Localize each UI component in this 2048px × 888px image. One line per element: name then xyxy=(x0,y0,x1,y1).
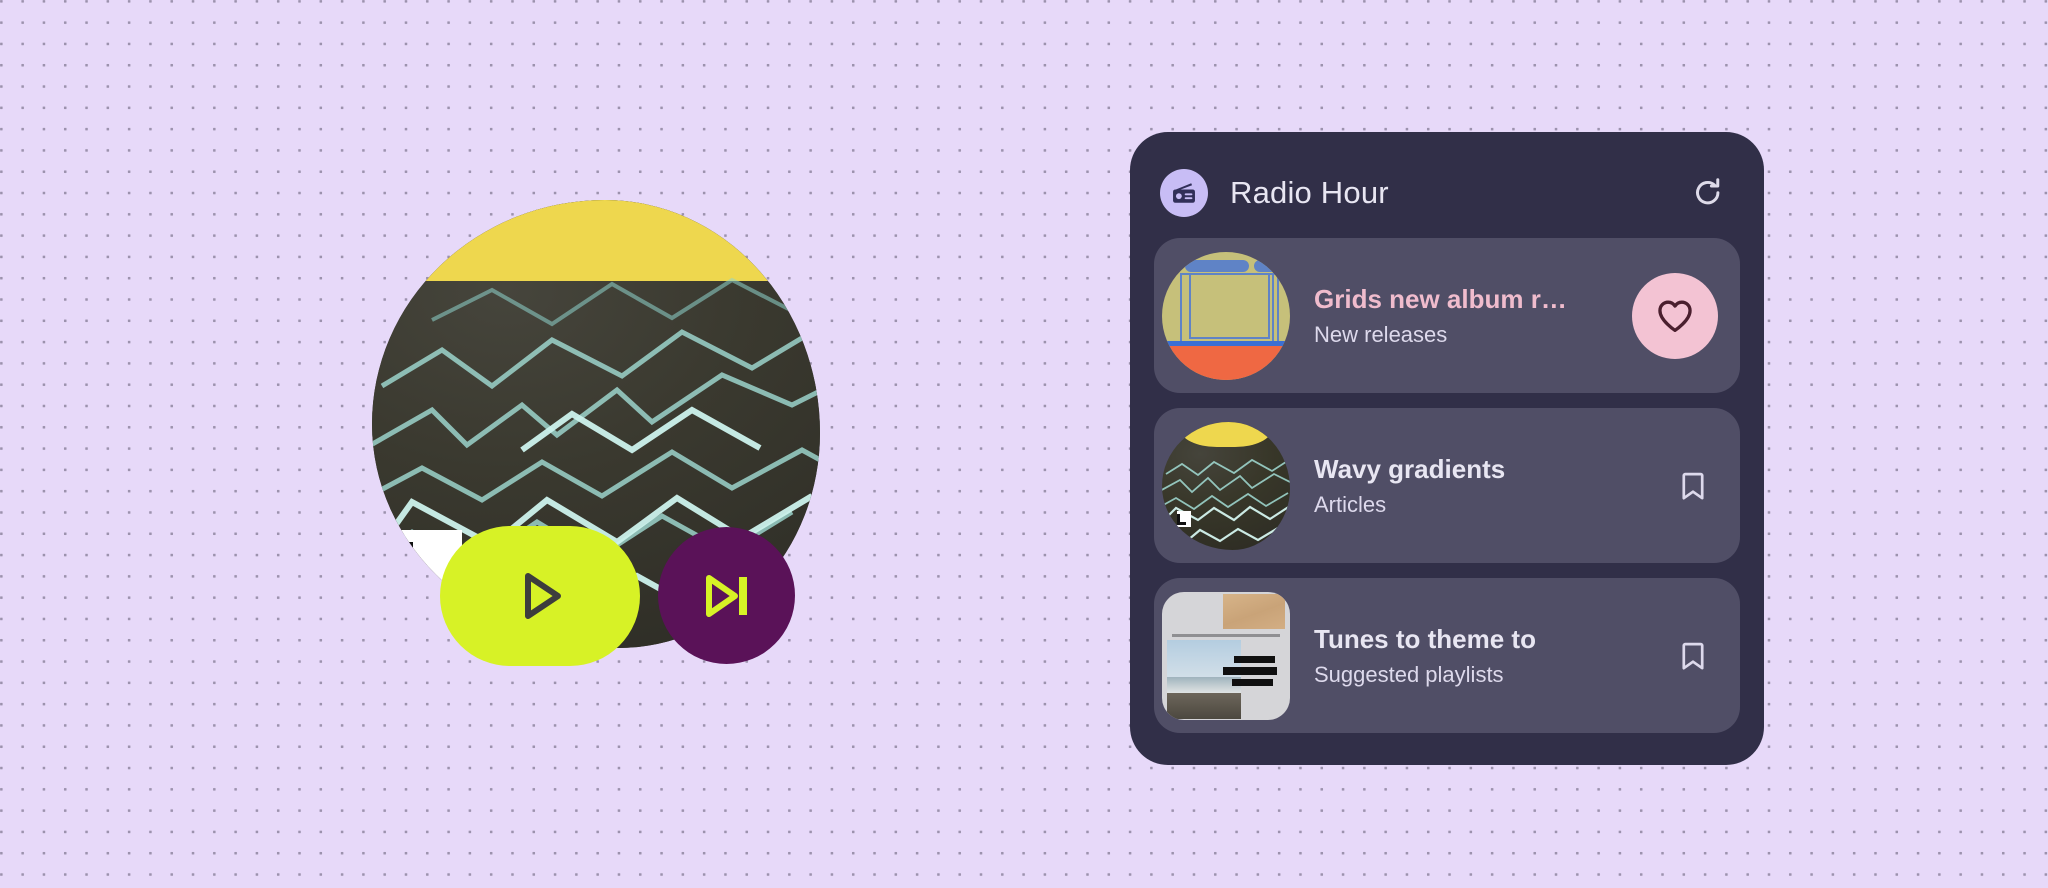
wavy-gradient-thumbnail xyxy=(1162,422,1290,550)
list-item-text: Wavy gradients Articles xyxy=(1314,453,1668,519)
list-item[interactable]: Wavy gradients Articles xyxy=(1154,408,1740,563)
album-artwork-stage xyxy=(372,200,824,720)
list-item-text: Grids new album r… New releases xyxy=(1314,283,1632,349)
list-item[interactable]: Tunes to theme to Suggested playlists xyxy=(1154,578,1740,733)
bookmark-icon xyxy=(1676,639,1710,673)
radio-icon-badge xyxy=(1160,169,1208,217)
card-header: Radio Hour xyxy=(1154,154,1740,232)
like-button-background xyxy=(1632,273,1718,359)
skip-next-icon xyxy=(697,566,757,626)
radio-hour-card: Radio Hour Grids new album r… N xyxy=(1130,132,1764,765)
like-button[interactable] xyxy=(1632,273,1718,359)
list-item-title: Grids new album r… xyxy=(1314,283,1632,316)
radio-icon xyxy=(1170,179,1198,207)
bookmark-button[interactable] xyxy=(1668,631,1718,681)
bookmark-button-inner xyxy=(1668,631,1718,681)
list-item[interactable]: Grids new album r… New releases xyxy=(1154,238,1740,393)
list-item-subtitle: Suggested playlists xyxy=(1314,662,1668,688)
card-title: Radio Hour xyxy=(1230,175,1664,211)
play-button[interactable] xyxy=(440,526,640,666)
list-item-subtitle: Articles xyxy=(1314,492,1668,518)
refresh-icon xyxy=(1691,176,1725,210)
beach-collage-thumbnail xyxy=(1162,592,1290,720)
heart-icon xyxy=(1654,295,1696,337)
play-icon xyxy=(508,564,572,628)
bookmark-button-inner xyxy=(1668,461,1718,511)
bookmark-button[interactable] xyxy=(1668,461,1718,511)
list-item-title: Wavy gradients xyxy=(1314,453,1668,486)
grid-poster-thumbnail xyxy=(1162,252,1290,380)
skip-next-button[interactable] xyxy=(658,527,795,664)
list-item-subtitle: New releases xyxy=(1314,322,1632,348)
bookmark-icon xyxy=(1676,469,1710,503)
radio-item-list: Grids new album r… New releases xyxy=(1154,238,1740,733)
list-item-text: Tunes to theme to Suggested playlists xyxy=(1314,623,1668,689)
refresh-button[interactable] xyxy=(1686,171,1730,215)
list-item-title: Tunes to theme to xyxy=(1314,623,1668,656)
